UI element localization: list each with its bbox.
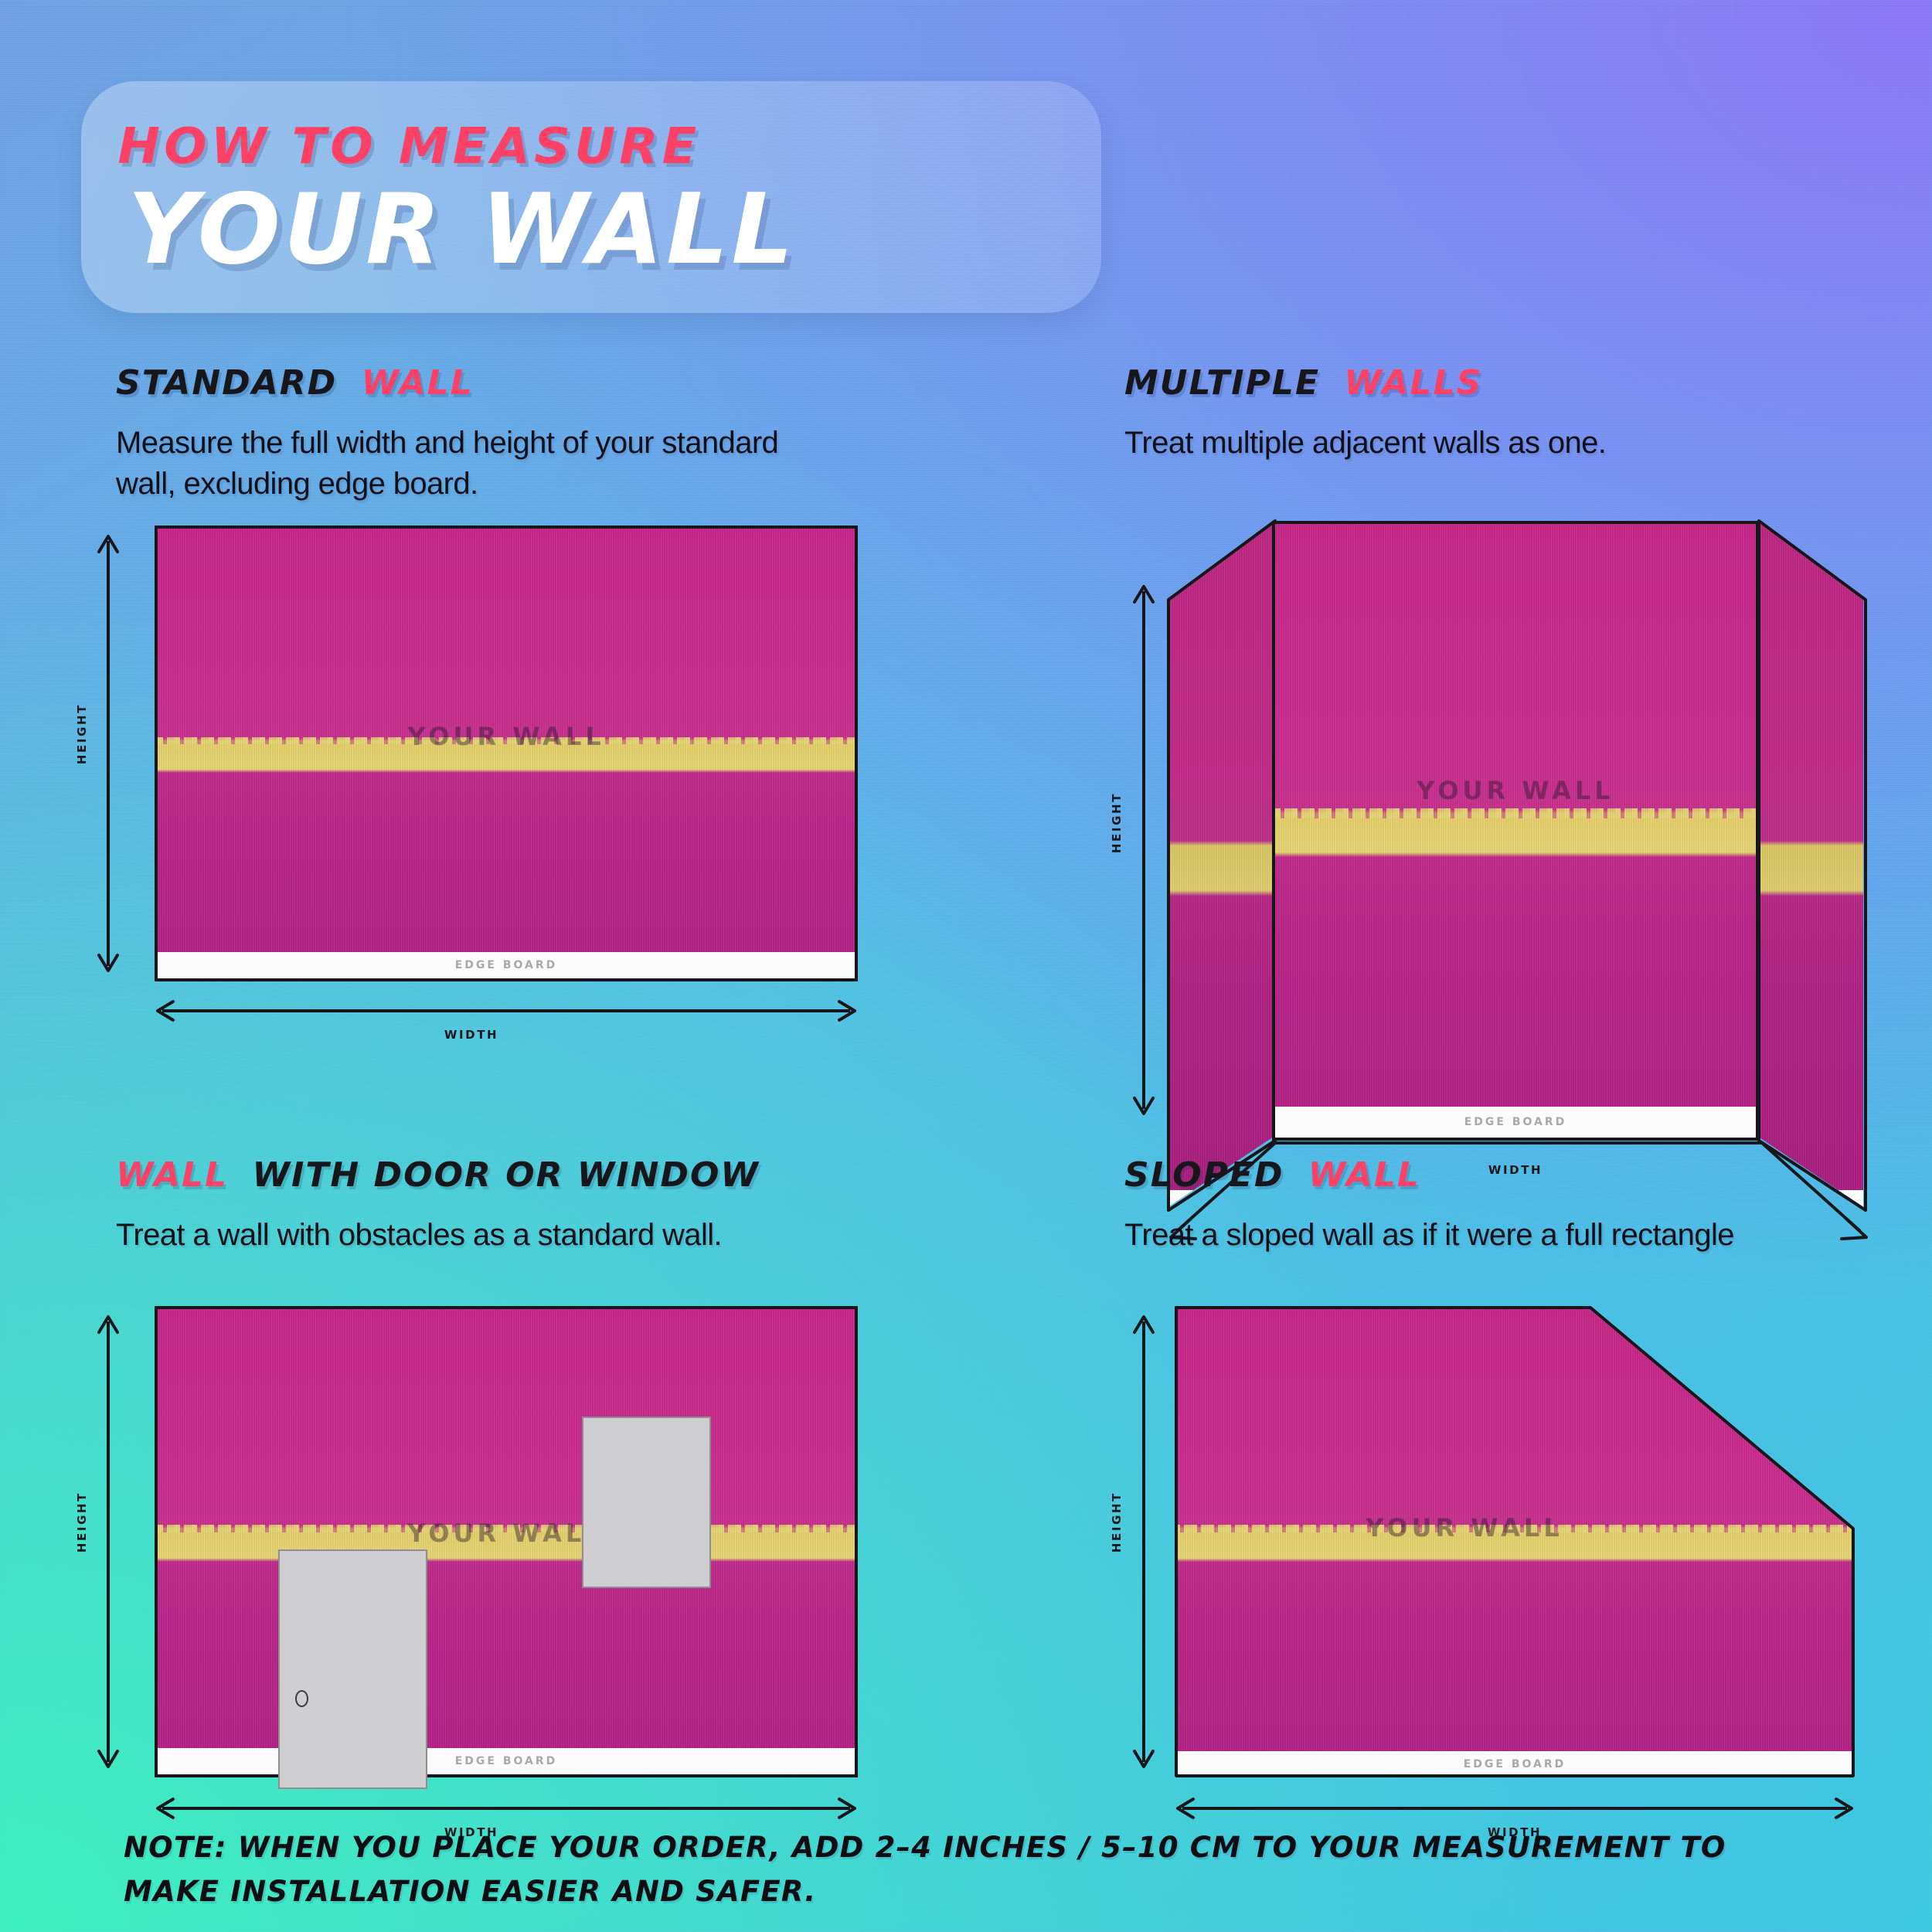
section-title-sloped-wall: SLOPED WALL <box>1124 1155 1932 1195</box>
height-dimension-arrow-sloped <box>1128 1314 1159 1770</box>
footer-note-line-2: MAKE INSTALLATION EASIER AND SAFER. <box>124 1869 1855 1913</box>
section-title-dark-part: MULTIPLE <box>1124 363 1320 403</box>
section-description-sloped-wall: Treat a sloped wall as if it were a full… <box>1124 1215 1897 1256</box>
wall-left-panel-outline <box>1167 510 1277 1225</box>
section-wall-with-door-or-window: WALL WITH DOOR OR WINDOW Treat a wall wi… <box>116 1155 997 1256</box>
section-title-pink-part: WALL <box>1308 1155 1420 1195</box>
section-title-dark-part: STANDARD <box>116 363 337 403</box>
diagram-standard-wall: HEIGHT YOUR WALL EDGE BOARD WIDTH <box>85 526 912 1051</box>
height-label-door: HEIGHT <box>75 1492 89 1553</box>
your-wall-label-standard: YOUR WALL <box>158 722 855 751</box>
door-obstacle <box>278 1549 427 1789</box>
section-sloped-wall: SLOPED WALL Treat a sloped wall as if it… <box>1124 1155 1932 1256</box>
window-obstacle <box>582 1417 711 1588</box>
wall-sloped-outline <box>1175 1306 1858 1781</box>
section-title-standard-wall: STANDARD WALL <box>116 363 981 403</box>
section-title-pink-part: WALL <box>362 363 474 403</box>
wall-paint-texture-center-panel <box>1275 524 1756 1138</box>
footer-note: NOTE: WHEN YOU PLACE YOUR ORDER, ADD 2–4… <box>124 1825 1855 1914</box>
wall-surface-center-panel: YOUR WALL EDGE BOARD <box>1272 521 1759 1141</box>
section-description-multiple-walls: Treat multiple adjacent walls as one. <box>1124 423 1897 464</box>
section-title-pink-part: WALL <box>116 1155 228 1195</box>
wall-right-panel-outline <box>1756 510 1868 1225</box>
section-description-wall-with-door-or-window: Treat a wall with obstacles as a standar… <box>116 1215 889 1256</box>
height-label-sloped: HEIGHT <box>1110 1492 1124 1553</box>
header-card: HOW TO MEASURE YOUR WALL <box>81 81 1101 313</box>
width-label-standard: WIDTH <box>85 1028 858 1042</box>
wall-surface-standard: YOUR WALL EDGE BOARD <box>155 526 858 981</box>
height-label-standard: HEIGHT <box>75 703 89 764</box>
edge-board-label-door-window: EDGE BOARD <box>455 1755 558 1767</box>
height-label-multiple: HEIGHT <box>1110 792 1124 853</box>
section-title-pink-part: WALLS <box>1344 363 1482 403</box>
width-dimension-arrow-door <box>155 1793 858 1824</box>
page-title: YOUR WALL <box>128 180 1101 280</box>
your-wall-label-multiple: YOUR WALL <box>1275 776 1756 805</box>
width-dimension-arrow-standard <box>155 995 858 1026</box>
edge-board-multiple: EDGE BOARD <box>1275 1107 1756 1138</box>
door-knob-icon <box>295 1690 308 1707</box>
wall-paint-texture-standard <box>158 529 855 978</box>
section-title-dark-part: WITH DOOR OR WINDOW <box>253 1155 760 1195</box>
edge-board-standard: EDGE BOARD <box>158 952 855 978</box>
diagram-wall-with-door-or-window: HEIGHT YOUR WALL EDGE BOARD WIDTH <box>85 1306 912 1832</box>
diagram-multiple-walls: HEIGHT YOUR WALL EDGE BOARD WIDTH <box>1121 510 1901 1097</box>
section-title-multiple-walls: MULTIPLE WALLS <box>1124 363 1897 403</box>
height-dimension-arrow-door <box>93 1314 124 1770</box>
your-wall-label-door-window: YOUR WALL <box>158 1519 855 1548</box>
wall-surface-door-window: YOUR WALL EDGE BOARD <box>155 1306 858 1777</box>
height-dimension-arrow-standard <box>93 533 124 974</box>
footer-note-line-1: NOTE: WHEN YOU PLACE YOUR ORDER, ADD 2–4… <box>124 1825 1855 1869</box>
edge-board-label-standard: EDGE BOARD <box>455 959 558 971</box>
edge-board-door-window: EDGE BOARD <box>158 1748 855 1774</box>
height-dimension-arrow-multiple <box>1128 583 1159 1117</box>
diagram-sloped-wall: HEIGHT YOUR WALL EDGE BOARD WIDTH <box>1121 1306 1901 1832</box>
section-description-standard-wall: Measure the full width and height of you… <box>116 423 811 505</box>
header-kicker: HOW TO MEASURE <box>117 118 1111 175</box>
section-title-wall-with-door-or-window: WALL WITH DOOR OR WINDOW <box>116 1155 997 1195</box>
section-multiple-walls: MULTIPLE WALLS Treat multiple adjacent w… <box>1124 363 1897 464</box>
section-title-dark-part: SLOPED <box>1124 1155 1284 1195</box>
width-dimension-arrow-sloped <box>1175 1793 1855 1824</box>
edge-board-label-multiple: EDGE BOARD <box>1464 1116 1567 1128</box>
section-standard-wall: STANDARD WALL Measure the full width and… <box>116 363 981 505</box>
